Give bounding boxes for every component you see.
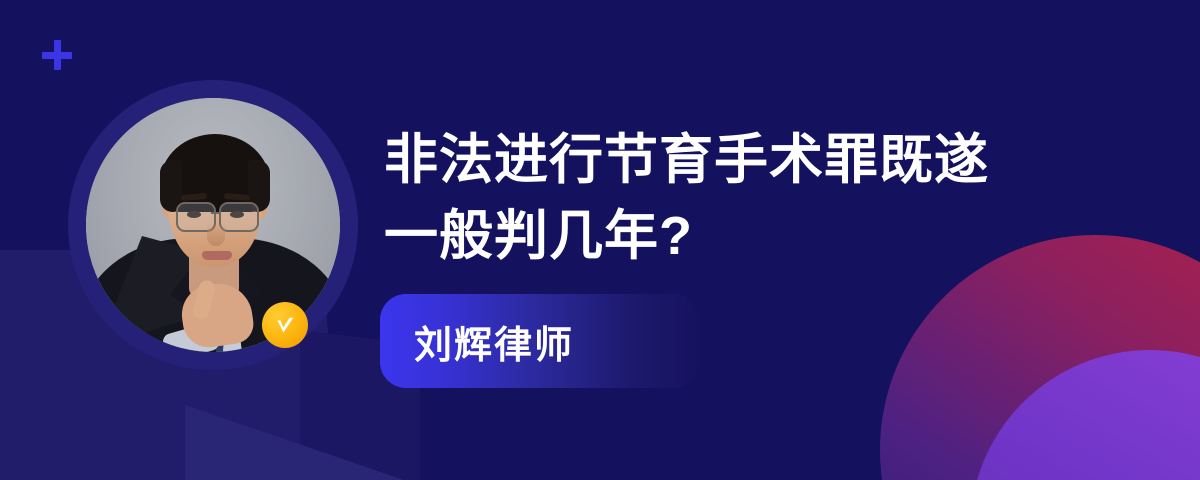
lawyer-qa-banner: 非法进行节育手术罪既遂 一般判几年? 刘辉律师	[0, 0, 1200, 480]
lawyer-name-label: 刘辉律师	[414, 314, 574, 369]
avatar[interactable]	[68, 80, 358, 370]
page-title: 非法进行节育手术罪既遂 一般判几年?	[384, 122, 1084, 274]
verified-check-icon	[262, 302, 308, 348]
lawyer-name-badge[interactable]: 刘辉律师	[380, 294, 700, 388]
plus-icon	[42, 40, 72, 70]
